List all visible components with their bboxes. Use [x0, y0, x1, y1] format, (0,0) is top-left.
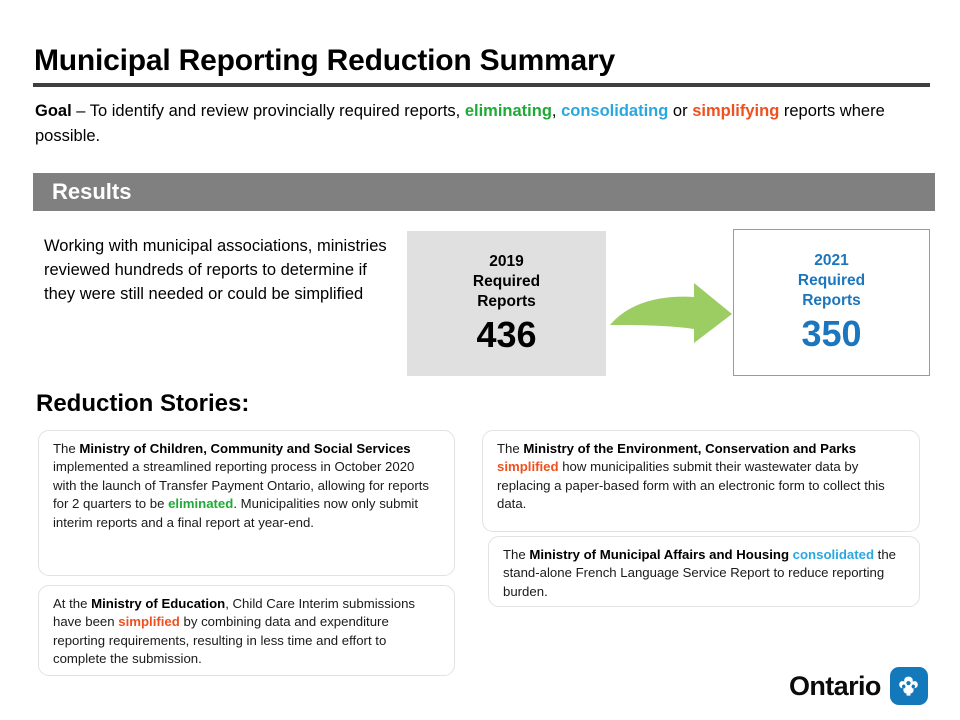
results-blurb: Working with municipal associations, min… — [44, 234, 389, 306]
story-text-lead: The — [503, 547, 529, 562]
stat-box-2021: 2021 Required Reports 350 — [733, 229, 930, 376]
story-keyword-eliminate: eliminated — [168, 496, 233, 511]
stat-2019-line2: Reports — [477, 292, 536, 312]
stat-2021-line1: Required — [798, 271, 865, 291]
stat-box-2019: 2019 Required Reports 436 — [407, 231, 606, 376]
goal-lead-label: Goal — [35, 102, 72, 120]
story-ministry-name: Ministry of Children, Community and Soci… — [79, 441, 410, 456]
story-keyword-consolidate: consolidated — [793, 547, 874, 562]
goal-text-1: To identify and review provincially requ… — [90, 102, 465, 120]
keyword-eliminating: eliminating — [465, 102, 552, 120]
goal-text-2: , — [552, 102, 561, 120]
story-text-lead: The — [53, 441, 79, 456]
right-arrow-icon — [608, 281, 734, 349]
story-ministry-name: Ministry of Municipal Affairs and Housin… — [529, 547, 789, 562]
page-title: Municipal Reporting Reduction Summary — [34, 44, 615, 78]
stat-2021-value: 350 — [801, 313, 861, 355]
reduction-stories-heading: Reduction Stories: — [36, 390, 249, 418]
story-card: The Ministry of Children, Community and … — [38, 430, 455, 576]
stat-2019-value: 436 — [476, 314, 536, 356]
story-ministry-name: Ministry of Education — [91, 596, 225, 611]
stat-2019-year: 2019 — [489, 252, 523, 272]
story-keyword-simplify: simplified — [118, 614, 180, 629]
trillium-icon — [890, 667, 928, 705]
title-divider — [33, 83, 930, 87]
keyword-simplifying: simplifying — [692, 102, 779, 120]
goal-dash: – — [72, 102, 90, 120]
goal-statement: Goal – To identify and review provincial… — [35, 99, 935, 149]
ontario-logo: Ontario — [789, 663, 934, 709]
goal-text-3: or — [668, 102, 692, 120]
results-section-band: Results — [33, 173, 935, 211]
keyword-consolidating: consolidating — [561, 102, 668, 120]
story-card: At the Ministry of Education, Child Care… — [38, 585, 455, 676]
slide-root: Municipal Reporting Reduction Summary Go… — [0, 0, 960, 720]
story-text-lead: At the — [53, 596, 91, 611]
story-keyword-simplify: simplified — [497, 459, 559, 474]
results-band-label: Results — [52, 179, 131, 205]
story-text-lead: The — [497, 441, 523, 456]
story-ministry-name: Ministry of the Environment, Conservatio… — [523, 441, 856, 456]
story-card: The Ministry of the Environment, Conserv… — [482, 430, 920, 532]
stat-2021-line2: Reports — [802, 291, 861, 311]
story-card: The Ministry of Municipal Affairs and Ho… — [488, 536, 920, 607]
stat-2021-year: 2021 — [814, 251, 848, 271]
ontario-wordmark: Ontario — [789, 671, 881, 702]
stat-2019-line1: Required — [473, 272, 540, 292]
